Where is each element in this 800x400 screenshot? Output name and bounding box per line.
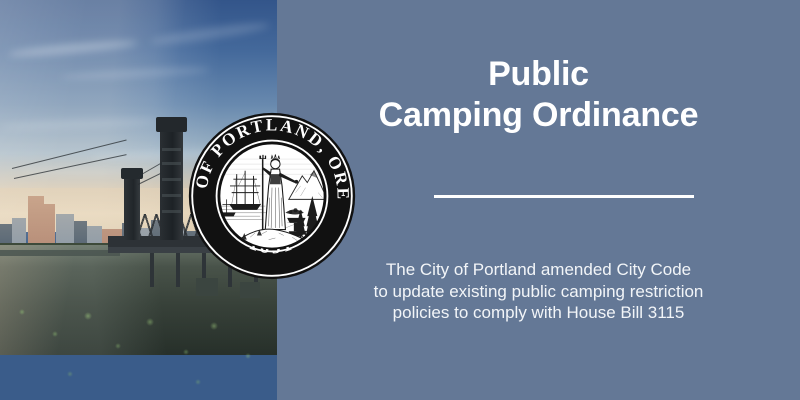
divider-rule: [434, 195, 694, 198]
title-line-2: Camping Ordinance: [277, 95, 800, 136]
portland-city-seal-icon: CITY OF PORTLAND, OREGON 1851: [188, 112, 356, 280]
portland-city-seal: CITY OF PORTLAND, OREGON 1851: [188, 112, 356, 280]
body-line-1: The City of Portland amended City Code: [277, 259, 800, 281]
steel-bridge-tower-far: [160, 128, 183, 240]
description-text: The City of Portland amended City Code t…: [277, 259, 800, 324]
body-line-2: to update existing public camping restri…: [277, 281, 800, 303]
steel-bridge-tower-near: [124, 176, 140, 240]
bridge-approach: [0, 250, 120, 256]
page-title: Public Camping Ordinance: [277, 54, 800, 136]
foliage-texture: [0, 282, 277, 400]
banner: CITY OF PORTLAND, OREGON 1851: [0, 0, 800, 400]
title-line-1: Public: [277, 54, 800, 95]
body-line-3: policies to comply with House Bill 3115: [277, 302, 800, 324]
